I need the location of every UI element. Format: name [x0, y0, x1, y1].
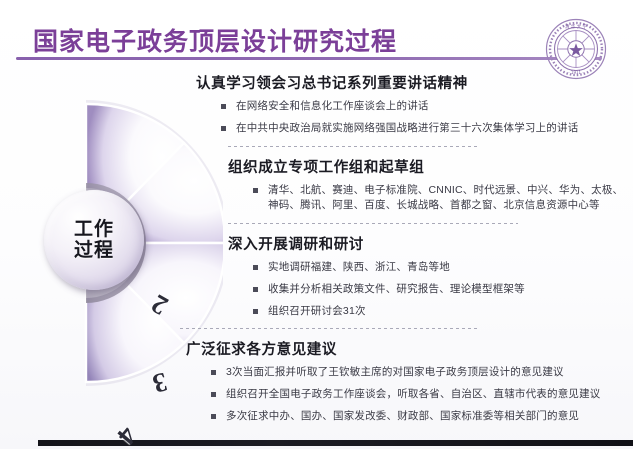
section-3: 深入开展调研和研讨 实地调研福建、陕西、浙江、青岛等地 收集并分析相关政策文件、…	[228, 233, 628, 319]
list-item: 清华、北航、赛迪、电子标准院、CNNIC、时代远景、中兴、华为、太极、神码、腾讯…	[250, 183, 628, 215]
list-item: 实地调研福建、陕西、浙江、青岛等地	[250, 260, 628, 276]
section-4-heading: 广泛征求各方意见建议	[186, 338, 628, 359]
section-4: 广泛征求各方意见建议 3次当面汇报并听取了王钦敏主席的对国家电子政务顶层设计的意…	[186, 338, 628, 424]
section-divider-3	[180, 328, 480, 329]
section-1: 认真学习领会习总书记系列重要讲话精神 在网络安全和信息化工作座谈会上的讲话 在中…	[196, 72, 628, 137]
section-1-bullets: 在网络安全和信息化工作座谈会上的讲话 在中共中央政治局就实施网络强国战略进行第三…	[218, 99, 628, 137]
content-column: 认真学习领会习总书记系列重要讲话精神 在网络安全和信息化工作座谈会上的讲话 在中…	[196, 72, 628, 431]
list-item: 在网络安全和信息化工作座谈会上的讲话	[218, 99, 628, 115]
list-item: 多次征求中办、国办、国家发改委、财政部、国家标准委等相关部门的意见	[208, 409, 628, 425]
list-item: 在中共中央政治局就实施网络强国战略进行第三十六次集体学习上的讲话	[218, 121, 628, 137]
section-4-bullets: 3次当面汇报并听取了王钦敏主席的对国家电子政务顶层设计的意见建议 组织召开全国电…	[208, 365, 628, 424]
list-item: 组织召开研讨会31次	[250, 304, 628, 320]
section-divider-2	[228, 223, 518, 224]
section-2-heading: 组织成立专项工作组和起草组	[228, 156, 628, 177]
section-3-heading: 深入开展调研和研讨	[228, 233, 628, 254]
list-item: 组织召开全国电子政务工作座谈会，听取各省、自治区、直辖市代表的意见建议	[208, 387, 628, 403]
center-label-line1: 工作	[74, 219, 114, 240]
section-1-heading: 认真学习领会习总书记系列重要讲话精神	[196, 72, 628, 93]
list-item: 收集并分析相关政策文件、研究报告、理论模型框架等	[250, 282, 628, 298]
section-2: 组织成立专项工作组和起草组 清华、北航、赛迪、电子标准院、CNNIC、时代远景、…	[228, 156, 628, 215]
diagram-center-label: 工作 过程	[44, 190, 144, 290]
page-title: 国家电子政务顶层设计研究过程	[33, 22, 397, 58]
section-2-bullets: 清华、北航、赛迪、电子标准院、CNNIC、时代远景、中兴、华为、太极、神码、腾讯…	[250, 183, 628, 215]
segment-number-4: 4	[111, 420, 143, 450]
list-item: 3次当面汇报并听取了王钦敏主席的对国家电子政务顶层设计的意见建议	[208, 365, 628, 381]
svg-text:清 华 大 学: 清 华 大 学	[565, 23, 587, 30]
university-seal-icon: 清 华 大 学 · 1911 ·	[545, 18, 607, 80]
center-label-line2: 过程	[74, 240, 114, 261]
slide-canvas: 国家电子政务顶层设计研究过程 清 华 大 学 · 1911 ·	[0, 0, 633, 449]
title-underline-rule	[16, 57, 602, 60]
section-3-bullets: 实地调研福建、陕西、浙江、青岛等地 收集并分析相关政策文件、研究报告、理论模型框…	[250, 260, 628, 319]
section-divider-1	[228, 146, 480, 147]
